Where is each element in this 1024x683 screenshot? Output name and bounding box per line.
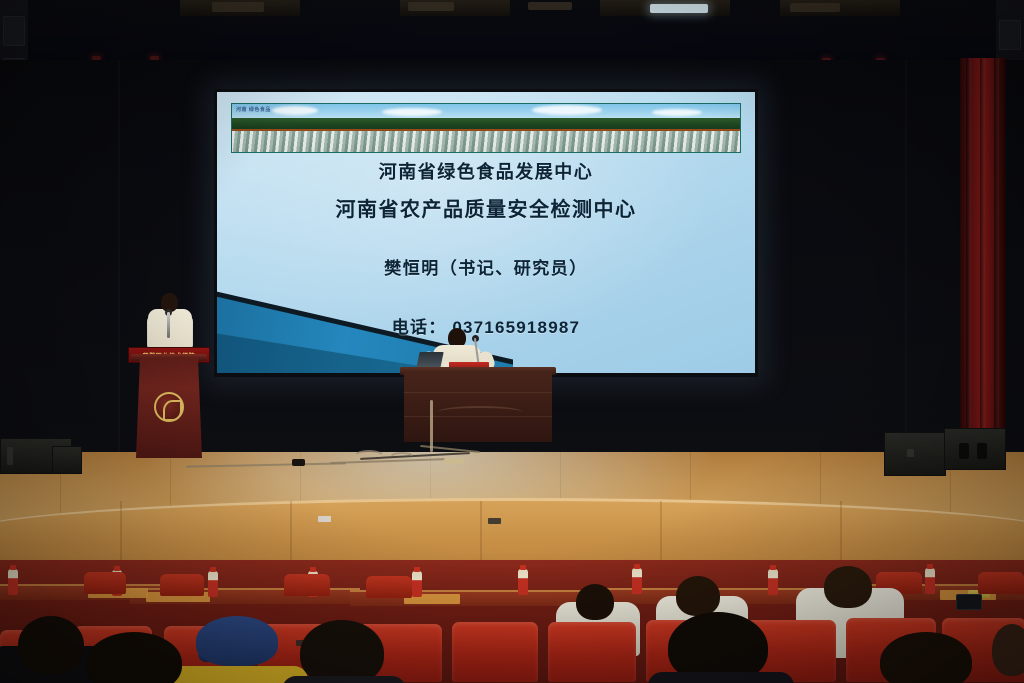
audience-person-head bbox=[18, 616, 84, 674]
water-bottle bbox=[768, 569, 778, 595]
slide-text-block: 河南省绿色食品发展中心 河南省农产品质量安全检测中心 樊恒明（书记、研究员） 电… bbox=[217, 158, 755, 338]
floor-marker bbox=[488, 518, 501, 524]
slide-org-line-1: 河南省绿色食品发展中心 bbox=[217, 158, 755, 184]
laptop-icon bbox=[416, 352, 443, 368]
cable-loop bbox=[388, 452, 416, 466]
audience-person-head bbox=[300, 620, 384, 683]
slide-presenter-name: 樊恒明（书记、研究员） bbox=[217, 254, 755, 279]
audience-person-head bbox=[824, 566, 872, 608]
audience-seat bbox=[978, 572, 1024, 594]
water-bottle bbox=[632, 568, 642, 594]
stage-monitor-speaker bbox=[944, 428, 1006, 470]
water-bottle bbox=[8, 569, 18, 595]
water-bottle bbox=[518, 569, 528, 595]
presenter-desk bbox=[404, 372, 552, 442]
audience-seat bbox=[366, 576, 412, 598]
audience-person-head bbox=[576, 584, 614, 620]
audience-seat bbox=[548, 622, 636, 682]
smartphone-on-desk bbox=[956, 594, 982, 610]
audience-seat bbox=[84, 572, 126, 594]
audience-person-body bbox=[282, 676, 406, 683]
projection-screen: 河南 绿色食品 河南省绿色食品发展中心 河南省农产品质量安全检测中心 樊恒明（书… bbox=[217, 92, 755, 373]
audience-person-head bbox=[676, 576, 720, 616]
power-strip-icon bbox=[292, 459, 305, 466]
audience-person-head bbox=[992, 624, 1024, 676]
stage-monitor-speaker bbox=[52, 446, 82, 474]
audience-person-body bbox=[648, 672, 794, 683]
audience-seat bbox=[284, 574, 330, 596]
ceiling-spotlight-icon bbox=[650, 4, 708, 13]
audience-person-head bbox=[880, 632, 972, 683]
auditorium-scene: 河南 绿色食品 河南省绿色食品发展中心 河南省农产品质量安全检测中心 樊恒明（书… bbox=[0, 0, 1024, 683]
school-crest-icon bbox=[154, 392, 184, 422]
audience-seat bbox=[160, 574, 204, 596]
audience-seating bbox=[0, 560, 1024, 683]
floor-marker bbox=[318, 516, 331, 522]
power-strip-icon bbox=[444, 458, 464, 464]
water-bottle bbox=[208, 571, 218, 597]
stage-monitor-speaker bbox=[884, 432, 946, 476]
cable-loop bbox=[352, 450, 386, 466]
audience-seat bbox=[452, 622, 538, 682]
water-bottle bbox=[412, 571, 422, 597]
water-bottle bbox=[925, 568, 935, 594]
slide-org-line-2: 河南省农产品质量安全检测中心 bbox=[217, 193, 755, 222]
stage-curtain bbox=[960, 58, 1006, 458]
slide-banner-watermark: 河南 绿色食品 bbox=[236, 106, 271, 113]
slide-telephone: 电话： 037165918987 bbox=[217, 313, 755, 338]
baseball-cap bbox=[196, 616, 278, 666]
stage-cable bbox=[430, 400, 433, 452]
slide-header-photo: 河南 绿色食品 bbox=[231, 103, 741, 153]
